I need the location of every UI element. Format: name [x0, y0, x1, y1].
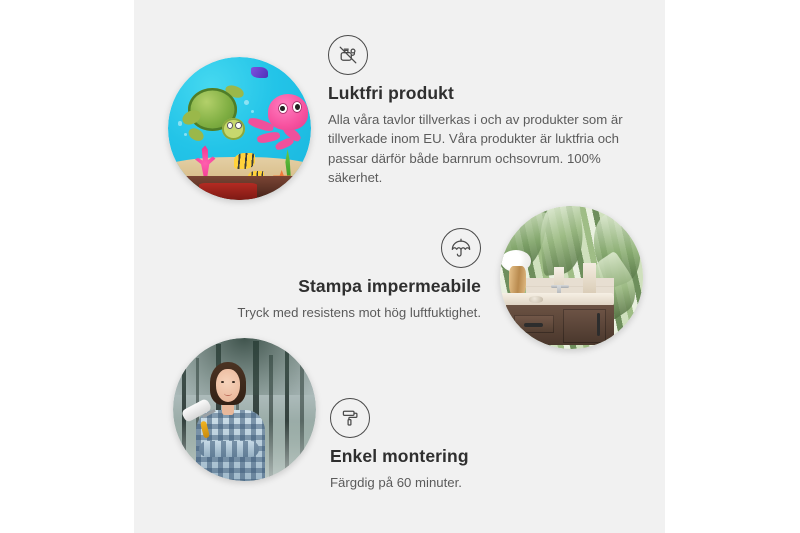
- feature-title: Stampa impermeabile: [189, 276, 481, 298]
- door-handle: [597, 313, 600, 336]
- red-sofa: [199, 183, 256, 200]
- feature-body: Alla våra tavlor tillverkas i och av pro…: [328, 110, 625, 188]
- towel: [583, 263, 596, 294]
- tile-backsplash: [526, 278, 615, 295]
- octopus-head: [268, 94, 308, 130]
- bubble-icon: [184, 133, 187, 136]
- feature-title: Enkel montering: [330, 446, 610, 468]
- product-feature-panel: Luktfri produkt Alla våra tavlor tillver…: [134, 0, 665, 533]
- octopus-pupil: [295, 104, 300, 110]
- turtle-eye: [235, 122, 241, 129]
- paint-roller-icon: [330, 398, 370, 438]
- feature-odour-free: Luktfri produkt Alla våra tavlor tillver…: [328, 35, 625, 188]
- photo-bathroom-tropical-leaf-mural: [500, 206, 643, 349]
- umbrella-icon: [441, 228, 481, 268]
- feature-body: Färgdig på 60 minuter.: [330, 473, 610, 492]
- photo-woman-with-paint-roller-forest-mural: [173, 338, 316, 481]
- fish-yellow: [234, 153, 255, 169]
- woman-crossed-arms: [199, 441, 259, 457]
- soap-dish: [529, 296, 543, 302]
- feature-easy-mounting: Enkel montering Färgdig på 60 minuter.: [330, 398, 610, 492]
- photo-underwater-kids-mural: [168, 57, 311, 200]
- drawer-handle: [524, 323, 543, 326]
- feature-waterproof-print: Stampa impermeabile Tryck med resistens …: [189, 228, 481, 322]
- turtle-head: [222, 118, 245, 139]
- bubble-icon: [178, 121, 182, 125]
- feature-body: Tryck med resistens mot hög luftfuktighe…: [189, 303, 481, 322]
- bubble-icon: [244, 100, 249, 105]
- screenshot-root: Luktfri produkt Alla våra tavlor tillver…: [0, 0, 800, 533]
- no-fragrance-icon: [328, 35, 368, 75]
- fish-purple: [251, 67, 268, 78]
- feature-title: Luktfri produkt: [328, 83, 625, 105]
